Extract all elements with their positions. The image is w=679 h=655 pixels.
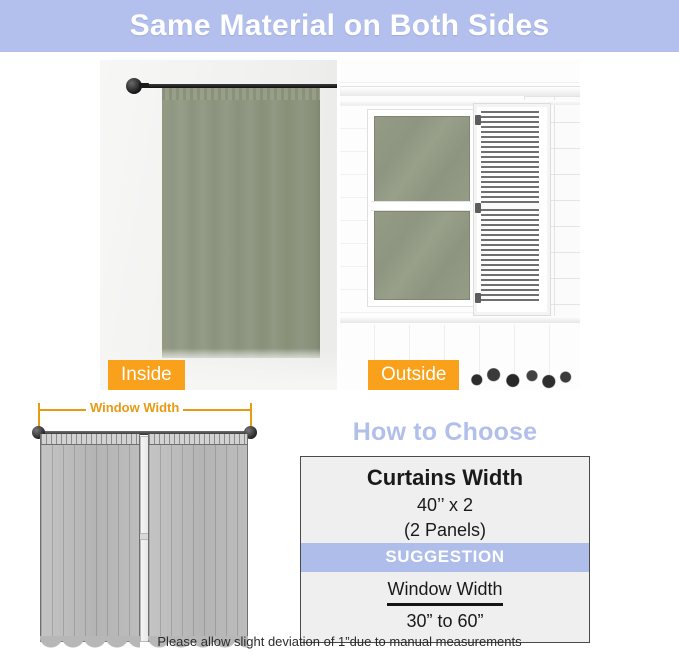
spec-heading: Curtains Width xyxy=(301,457,589,493)
dimension-cap-left-icon xyxy=(38,403,40,427)
window-pane-bottom xyxy=(374,211,470,300)
shutter-hinge-top-icon xyxy=(475,115,481,125)
rod-pocket-header-right xyxy=(149,434,247,445)
spec-measure-wrap: Window Width xyxy=(301,572,589,606)
rod-finial-icon xyxy=(126,78,142,94)
badge-outside: Outside xyxy=(368,360,459,390)
diagram-curtain-panel-right xyxy=(148,434,248,642)
sage-curtain-panel xyxy=(162,88,320,358)
window-ledge xyxy=(340,316,580,323)
shutter-hinge-bottom-icon xyxy=(475,293,481,303)
spec-suggestion-band: SUGGESTION xyxy=(301,543,589,572)
header-banner: Same Material on Both Sides xyxy=(0,0,679,52)
how-to-choose-title: How to Choose xyxy=(300,418,590,447)
comparison-photo-row: Inside Outside xyxy=(100,60,580,390)
window-width-diagram: Window Width xyxy=(24,400,280,650)
window-pane-top xyxy=(374,116,470,205)
dimension-label: Window Width xyxy=(86,400,183,415)
spec-measure-label: Window Width xyxy=(387,575,502,606)
louvered-shutter xyxy=(474,104,550,315)
how-to-choose-section: How to Choose Curtains Width 40’’ x 2 (2… xyxy=(300,418,590,643)
disclaimer-text: Please allow slight deviation of 1”due t… xyxy=(0,634,679,649)
badge-inside: Inside xyxy=(108,360,185,390)
photo-inside: Inside xyxy=(100,60,337,390)
spec-size: 40’’ x 2 xyxy=(301,493,589,518)
photo-outside: Outside xyxy=(340,60,580,390)
diagram-curtain-panel-left xyxy=(40,434,140,642)
window-mullion xyxy=(371,202,471,210)
roof-trim xyxy=(340,86,580,96)
shutter-louvers-top xyxy=(481,111,539,203)
shrub xyxy=(460,356,580,390)
spec-table: Curtains Width 40’’ x 2 (2 Panels) SUGGE… xyxy=(300,456,590,643)
shutter-hinge-middle-icon xyxy=(475,203,481,213)
rod-pocket-header-left xyxy=(41,434,139,445)
page-title: Same Material on Both Sides xyxy=(130,9,550,43)
exterior-window xyxy=(368,110,474,306)
shutter-louvers-bottom xyxy=(481,209,539,301)
spec-panels: (2 Panels) xyxy=(301,518,589,543)
dimension-cap-right-icon xyxy=(250,403,252,427)
